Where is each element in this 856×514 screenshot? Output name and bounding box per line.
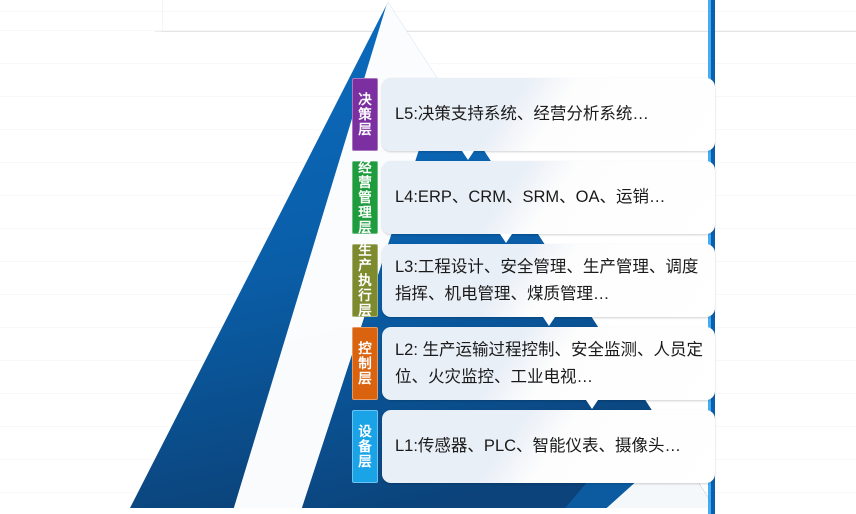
- layer-tab-l2: 控 制 层: [352, 327, 378, 400]
- layer-row-l1[interactable]: 设 备 层 L1:传感器、PLC、智能仪表、摄像头…: [352, 410, 715, 483]
- layer-card-l1[interactable]: L1:传感器、PLC、智能仪表、摄像头…: [382, 410, 715, 483]
- layer-tab-char: 管: [358, 190, 372, 205]
- layer-connector-arrow-icon: [543, 317, 555, 326]
- layer-row-l2[interactable]: 控 制 层 L2: 生产运输过程控制、安全监测、人员定 位、火灾监控、工业电视…: [352, 327, 715, 400]
- layer-card-text: L3:工程设计、安全管理、生产管理、调度 指挥、机电管理、煤质管理…: [395, 254, 698, 308]
- layer-row-l3[interactable]: 生 产 执 行 层 L3:工程设计、安全管理、生产管理、调度 指挥、机电管理、煤…: [352, 244, 715, 317]
- layer-tab-char: 层: [358, 220, 372, 235]
- layer-tab-char: 营: [358, 175, 372, 190]
- layer-card-text: L4:ERP、CRM、SRM、OA、运销…: [395, 184, 665, 211]
- layer-tab-char: 制: [358, 356, 372, 371]
- layer-tab-char: 决: [358, 92, 372, 107]
- layer-tab-l1: 设 备 层: [352, 410, 378, 483]
- layer-card-l3[interactable]: L3:工程设计、安全管理、生产管理、调度 指挥、机电管理、煤质管理…: [382, 244, 715, 317]
- layer-tab-char: 策: [358, 107, 372, 122]
- layer-card-l2[interactable]: L2: 生产运输过程控制、安全监测、人员定 位、火灾监控、工业电视…: [382, 327, 715, 400]
- layer-tab-l3: 生 产 执 行 层: [352, 244, 378, 317]
- layer-tab-char: 生: [358, 243, 372, 258]
- layer-tab-char: 控: [358, 341, 372, 356]
- layer-tab-char: 层: [358, 122, 372, 137]
- layer-tab-char: 备: [358, 439, 372, 454]
- layer-row-l4[interactable]: 经 营 管 理 层 L4:ERP、CRM、SRM、OA、运销…: [352, 161, 715, 234]
- layer-connector-arrow-icon: [586, 400, 598, 409]
- layer-tab-char: 层: [358, 371, 372, 386]
- layer-tab-char: 层: [358, 303, 372, 318]
- diagram-canvas: 决 策 层 L5:决策支持系统、经营分析系统… 经 营 管 理 层 L4:ERP…: [0, 0, 856, 514]
- layer-tab-char: 层: [358, 454, 372, 469]
- layer-tab-l4: 经 营 管 理 层: [352, 161, 378, 234]
- layer-card-text: L2: 生产运输过程控制、安全监测、人员定 位、火灾监控、工业电视…: [395, 337, 703, 391]
- layer-card-text: L5:决策支持系统、经营分析系统…: [395, 101, 649, 128]
- layer-tab-char: 产: [358, 258, 372, 273]
- layer-card-text: L1:传感器、PLC、智能仪表、摄像头…: [395, 433, 681, 460]
- layer-row-l5[interactable]: 决 策 层 L5:决策支持系统、经营分析系统…: [352, 78, 715, 151]
- layer-card-l4[interactable]: L4:ERP、CRM、SRM、OA、运销…: [382, 161, 715, 234]
- layer-tab-char: 设: [358, 424, 372, 439]
- layer-connector-arrow-icon: [462, 151, 474, 160]
- layer-tab-char: 经: [358, 160, 372, 175]
- layer-tab-char: 理: [358, 205, 372, 220]
- layer-rows: 决 策 层 L5:决策支持系统、经营分析系统… 经 营 管 理 层 L4:ERP…: [0, 0, 856, 514]
- layer-card-l5[interactable]: L5:决策支持系统、经营分析系统…: [382, 78, 715, 151]
- layer-tab-l5: 决 策 层: [352, 78, 378, 151]
- layer-connector-arrow-icon: [500, 234, 512, 243]
- layer-tab-char: 执: [358, 273, 372, 288]
- layer-tab-char: 行: [358, 288, 372, 303]
